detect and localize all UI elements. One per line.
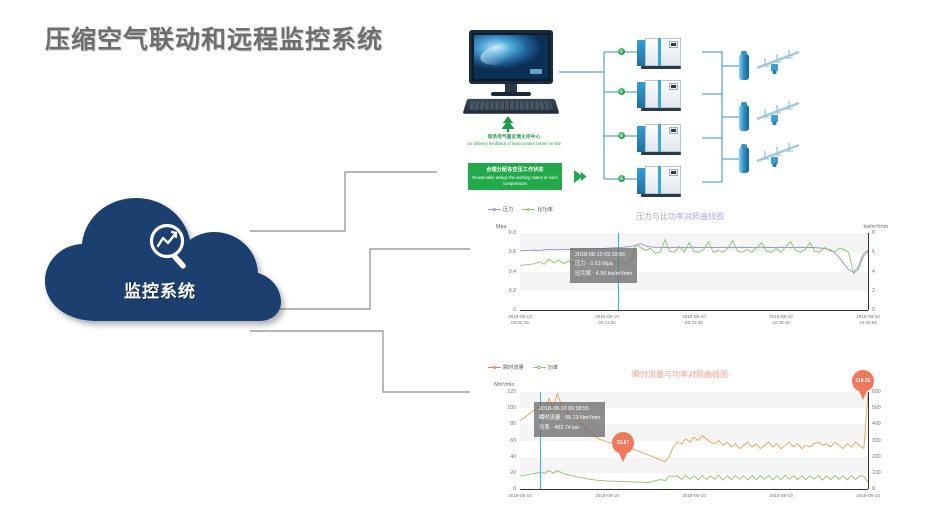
monitoring-cloud[interactable]: 监控系统 xyxy=(35,193,285,328)
axis-tick-label: 0 xyxy=(490,486,516,492)
tooltip-line-1: 瞬时流量 : 98.13 Nm³/min xyxy=(539,414,600,423)
chart-tooltip: 2018-08-10 00:38:55 瞬时流量 : 98.13 Nm³/min… xyxy=(534,402,605,437)
chart-tooltip: 2018-08-10 02:19:55 压力 : 0.63 Mpa 比功率 : … xyxy=(570,248,637,283)
compressor-side-panel xyxy=(637,40,645,66)
pipeline-tools-group xyxy=(755,99,801,129)
monitor-caption-cn: 现场用气量反馈主控中心 xyxy=(459,134,569,141)
compressor-control-panel xyxy=(669,83,678,90)
x-axis-tick-label: 2018-08-10 xyxy=(666,493,722,499)
compressor-unit xyxy=(637,166,681,196)
x-axis-tick-label: 2018-08-10 xyxy=(579,493,635,499)
x-axis-tick-label: 2018-08-1016:46:55 xyxy=(840,314,896,326)
monitor-caption-en: Air delivery feedback of main control ce… xyxy=(459,141,569,147)
min-value-pin[interactable]: 33.87 xyxy=(612,432,634,462)
node-dot-3: 3 xyxy=(618,132,625,139)
x-axis-tick-label: 2018-08-10 xyxy=(840,493,896,499)
slide-canvas: 压缩空气联动和远程监控系统 监控系统 xyxy=(0,0,945,529)
screen-logo xyxy=(530,69,542,74)
compressor-control-panel xyxy=(669,41,678,48)
x-axis-tick-label: 2018-08-10 xyxy=(753,493,809,499)
pipeline-tools-group xyxy=(755,141,801,171)
node-dot-4: 4 xyxy=(618,175,625,182)
compressor-control-panel xyxy=(669,127,678,134)
tooltip-timestamp: 2018-08-10 00:38:55 xyxy=(539,405,600,414)
compressor-stripe xyxy=(658,166,661,194)
chart-title: 压力与比功率对照曲线图 xyxy=(470,211,890,222)
series-line-功率 xyxy=(520,470,868,482)
pin-label: 118.55 xyxy=(852,370,874,392)
tooltip-line-2: 比功率 : 4.99 kw/m³/min xyxy=(575,270,632,279)
axis-tick-label: 0.6 xyxy=(490,249,516,255)
x-axis-line xyxy=(520,310,868,311)
compressor-unit xyxy=(637,80,681,110)
compressor-unit xyxy=(637,38,681,68)
air-tank xyxy=(739,54,749,80)
air-tank xyxy=(739,147,749,173)
compressor-stripe xyxy=(658,38,661,66)
compressor-base xyxy=(641,66,681,69)
axis-tick-label: 0 xyxy=(872,486,888,492)
screen-glint xyxy=(478,39,527,68)
compressor-base xyxy=(641,194,681,197)
x-axis-tick-label: 2018-08-1008:23:35 xyxy=(666,314,722,326)
axis-tick-label: 120 xyxy=(490,389,516,395)
axis-tick-label: 500 xyxy=(872,405,888,411)
axis-tick-label: 0 xyxy=(872,307,888,313)
axis-tick-label: 300 xyxy=(872,438,888,444)
callout-text-cn: 合理分配各空压工作状态 xyxy=(468,166,562,173)
axis-tick-label: 4 xyxy=(872,269,888,275)
pressure-power-chart[interactable]: 压力 比功率 压力与比功率对照曲线图 Mpa kw/m³/min 0.80.60… xyxy=(470,204,890,336)
compressor-side-panel xyxy=(637,82,645,108)
compressor-base xyxy=(641,108,681,111)
compressor-unit xyxy=(637,124,681,154)
axis-tick-label: 80 xyxy=(490,421,516,427)
axis-tick-label: 400 xyxy=(872,421,888,427)
keyboard xyxy=(463,99,560,114)
flow-power-chart[interactable]: 瞬时流量 功率 瞬时流量与功率对照曲线图 Nm³/min 12010080604… xyxy=(470,362,890,514)
x-axis-tick-label: 2018-08-1004:11:55 xyxy=(579,314,635,326)
compressor-stripe xyxy=(658,80,661,108)
y-axis-right-line xyxy=(868,392,869,489)
tooltip-line-2: 功率 : 493.74 kw xyxy=(539,424,600,433)
axis-tick-label: 200 xyxy=(872,454,888,460)
axis-tick-label: 60 xyxy=(490,438,516,444)
x-axis-line xyxy=(520,489,868,490)
axis-tick-label: 0 xyxy=(490,307,516,313)
monitor-screen xyxy=(469,30,553,84)
pin-label: 33.87 xyxy=(612,432,634,454)
pipeline-tools-group xyxy=(755,48,801,78)
y-axis-right-line xyxy=(868,233,869,310)
tooltip-line-1: 压力 : 0.63 Mpa xyxy=(575,260,632,269)
axis-tick-label: 100 xyxy=(490,405,516,411)
compressor-side-panel xyxy=(637,168,645,194)
air-tank xyxy=(739,105,749,131)
max-value-pin[interactable]: 118.55 xyxy=(852,370,874,400)
page-title: 压缩空气联动和远程监控系统 xyxy=(45,20,383,56)
compressor-side-panel xyxy=(637,126,645,152)
tooltip-timestamp: 2018-08-10 02:19:55 xyxy=(575,251,632,260)
callout-text-en: Reasonable assign the working states of … xyxy=(468,175,562,188)
monitor-neck xyxy=(505,84,517,92)
chart-title: 瞬时流量与功率对照曲线图 xyxy=(470,369,890,380)
x-axis-tick-label: 2018-08-1012:35:15 xyxy=(753,314,809,326)
axis-tick-label: 40 xyxy=(490,454,516,460)
system-diagram: 现场用气量反馈主控中心 Air delivery feedback of mai… xyxy=(437,14,937,204)
axis-tick-label: 6 xyxy=(872,249,888,255)
screen-wallpaper xyxy=(474,35,548,79)
monitor-base xyxy=(491,92,531,96)
x-axis-tick-label: 2018-08-1000:00:15 xyxy=(492,314,548,326)
axis-tick-label: 0.4 xyxy=(490,269,516,275)
play-arrow-icon xyxy=(573,170,587,183)
y-axis-unit-left: Nm³/min xyxy=(494,382,514,388)
axis-tick-label: 600 xyxy=(872,389,888,395)
magnifier-chart-icon xyxy=(143,221,199,273)
axis-tick-label: 0.8 xyxy=(490,230,516,236)
axis-tick-label: 8 xyxy=(872,230,888,236)
axis-tick-label: 2 xyxy=(872,288,888,294)
node-dot-1: 1 xyxy=(618,48,625,55)
compressor-base xyxy=(641,152,681,155)
control-center-monitor xyxy=(465,30,557,114)
compressor-stripe xyxy=(658,124,661,152)
compressor-control-panel xyxy=(669,169,678,176)
working-state-callout: 合理分配各空压工作状态 Reasonable assign the workin… xyxy=(468,163,562,190)
axis-tick-label: 100 xyxy=(872,470,888,476)
node-dot-2: 2 xyxy=(618,88,625,95)
x-axis-tick-label: 2018-08-10 xyxy=(492,493,548,499)
tree-icon xyxy=(499,116,517,132)
axis-tick-label: 0.2 xyxy=(490,288,516,294)
axis-tick-label: 20 xyxy=(490,470,516,476)
